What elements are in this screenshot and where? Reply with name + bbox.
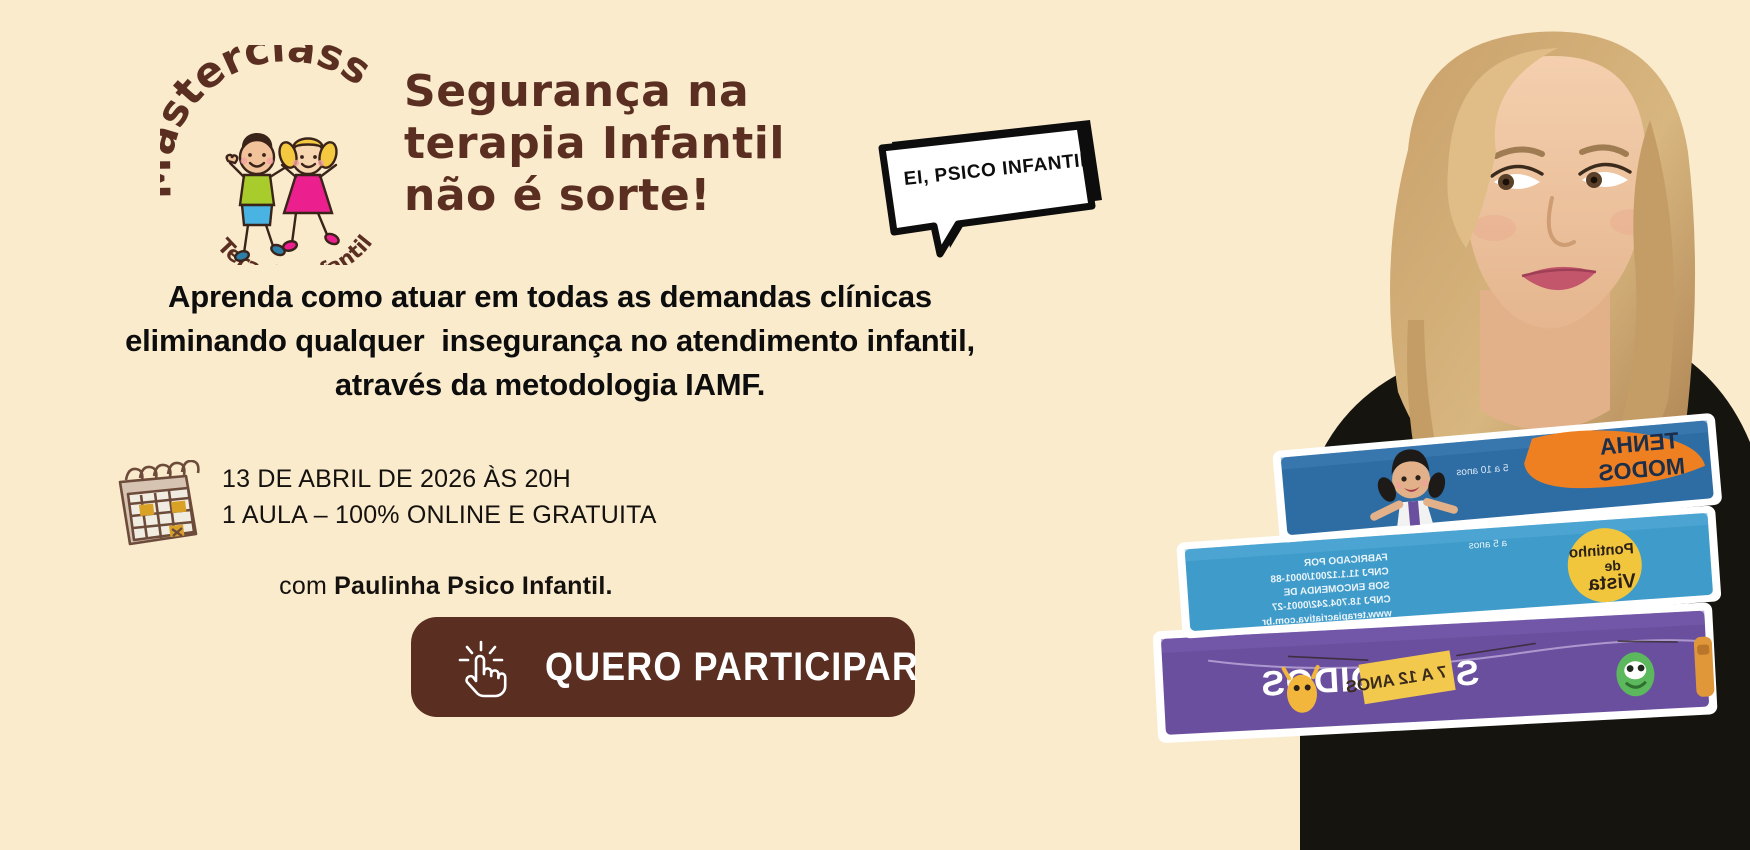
event-format: 1 AULA – 100% ONLINE E GRATUITA [222,498,657,534]
event-date: 13 DE ABRIL DE 2026 ÀS 20H [222,462,657,498]
headline-line-1: Segurança na [404,66,824,118]
masterclass-logo: Masterclass Terapia Infantil [160,45,410,265]
subheadline-line-3: através da metodologia IAMF. [40,363,1060,407]
click-hand-cursor-icon [455,636,511,698]
subheadline: Aprenda como atuar em todas as demandas … [40,275,1060,407]
speech-bubble: EI, PSICO INFANTIL [872,114,1102,254]
quero-participar-button[interactable]: QUERO PARTICIPAR [411,617,915,717]
event-details: 13 DE ABRIL DE 2026 ÀS 20H 1 AULA – 100%… [108,452,657,640]
cta-label: QUERO PARTICIPAR [545,645,919,690]
headline: Segurança na terapia Infantil não é sort… [404,66,824,222]
subheadline-line-1: Aprenda como atuar em todas as demandas … [40,275,1060,319]
event-detail-text: 13 DE ABRIL DE 2026 ÀS 20H 1 AULA – 100%… [222,452,657,640]
event-host-name: Paulinha Psico Infantil. [334,572,612,600]
woman-holding-game-boxes-photo: SACUDIDOS 7 A 12 ANOS [1150,0,1750,850]
headline-line-3: não é sorte! [404,170,824,222]
subheadline-line-2: eliminando qualquer insegurança no atend… [40,319,1060,363]
girl-figure [277,139,341,253]
calendar-icon [108,460,204,552]
event-host-prefix: com [279,572,334,600]
svg-text:Vista: Vista [1587,570,1637,595]
headline-line-2: terapia Infantil [404,118,824,170]
promo-banner: Masterclass Terapia Infantil [0,0,1750,850]
